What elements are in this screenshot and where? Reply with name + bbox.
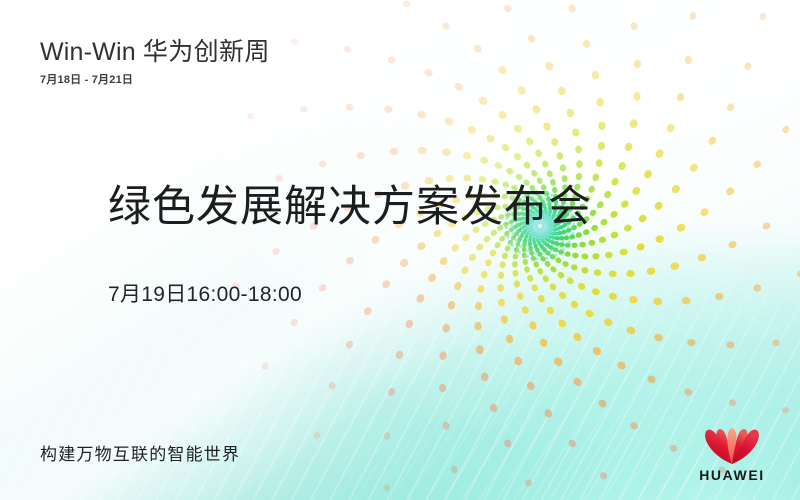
- brand-title-cn: 华为创新周: [143, 38, 270, 66]
- huawei-logo: HUAWEI: [686, 414, 778, 482]
- brand-title: Win-Win华为创新周: [40, 38, 270, 67]
- brand-title-en: Win-Win: [40, 38, 136, 66]
- huawei-wordmark: HUAWEI: [699, 468, 765, 482]
- company-slogan: 构建万物互联的智能世界: [40, 440, 240, 465]
- event-datetime: 7月19日16:00-18:00: [108, 278, 592, 308]
- poster-canvas: Win-Win华为创新周 7月18日 - 7月21日 绿色发展解决方案发布会 7…: [0, 0, 800, 500]
- page-title: 绿色发展解决方案发布会: [108, 184, 592, 231]
- event-date-range: 7月18日 - 7月21日: [40, 71, 270, 87]
- huawei-flower-icon: [701, 424, 763, 466]
- main-copy-block: 绿色发展解决方案发布会 7月19日16:00-18:00: [108, 184, 592, 308]
- event-header: Win-Win华为创新周 7月18日 - 7月21日: [40, 38, 270, 87]
